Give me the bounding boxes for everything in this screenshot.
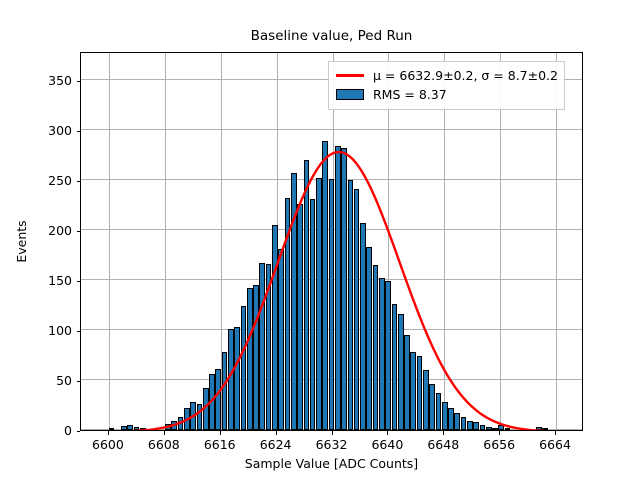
- x-tick-mark: [220, 431, 221, 435]
- legend-patch-key: [335, 89, 365, 100]
- y-tick-mark: [77, 331, 81, 332]
- y-tick-label: 200: [48, 223, 72, 238]
- y-axis-label: Events: [14, 52, 29, 431]
- legend-line-key: [335, 74, 365, 76]
- y-tick-mark: [77, 81, 81, 82]
- y-tick-label: 150: [48, 273, 72, 288]
- x-tick-label: 6656: [483, 437, 515, 452]
- x-tick-mark: [443, 431, 444, 435]
- y-tick-mark: [77, 231, 81, 232]
- x-tick-mark: [108, 431, 109, 435]
- chart-figure: Baseline value, Ped Run 0501001502002503…: [0, 0, 640, 480]
- y-tick-label: 0: [64, 423, 72, 438]
- y-tick-mark: [77, 131, 81, 132]
- chart-title: Baseline value, Ped Run: [80, 28, 583, 44]
- y-tick-mark: [77, 281, 81, 282]
- y-tick-label: 350: [48, 73, 72, 88]
- x-tick-label: 6608: [148, 437, 180, 452]
- x-tick-label: 6600: [92, 437, 124, 452]
- y-tick-mark: [77, 431, 81, 432]
- y-tick-label: 100: [48, 323, 72, 338]
- x-tick-mark: [555, 431, 556, 435]
- legend-label-fit: μ = 6632.9±0.2, σ = 8.7±0.2: [373, 68, 558, 83]
- y-tick-label: 300: [48, 123, 72, 138]
- legend-label-rms: RMS = 8.37: [373, 87, 447, 102]
- x-tick-label: 6648: [427, 437, 459, 452]
- x-tick-label: 6632: [316, 437, 348, 452]
- x-tick-mark: [387, 431, 388, 435]
- legend-item-rms: RMS = 8.37: [335, 85, 558, 104]
- chart-legend: μ = 6632.9±0.2, σ = 8.7±0.2 RMS = 8.37: [328, 61, 565, 110]
- x-tick-label: 6624: [260, 437, 292, 452]
- x-tick-mark: [499, 431, 500, 435]
- y-tick-label: 250: [48, 173, 72, 188]
- y-tick-label: 50: [56, 373, 72, 388]
- x-tick-label: 6616: [204, 437, 236, 452]
- x-tick-mark: [332, 431, 333, 435]
- y-tick-mark: [77, 381, 81, 382]
- x-tick-mark: [164, 431, 165, 435]
- x-axis-label: Sample Value [ADC Counts]: [80, 456, 583, 471]
- y-tick-mark: [77, 181, 81, 182]
- x-tick-label: 6664: [539, 437, 571, 452]
- x-tick-label: 6640: [371, 437, 403, 452]
- x-tick-mark: [276, 431, 277, 435]
- legend-item-fit: μ = 6632.9±0.2, σ = 8.7±0.2: [335, 66, 558, 85]
